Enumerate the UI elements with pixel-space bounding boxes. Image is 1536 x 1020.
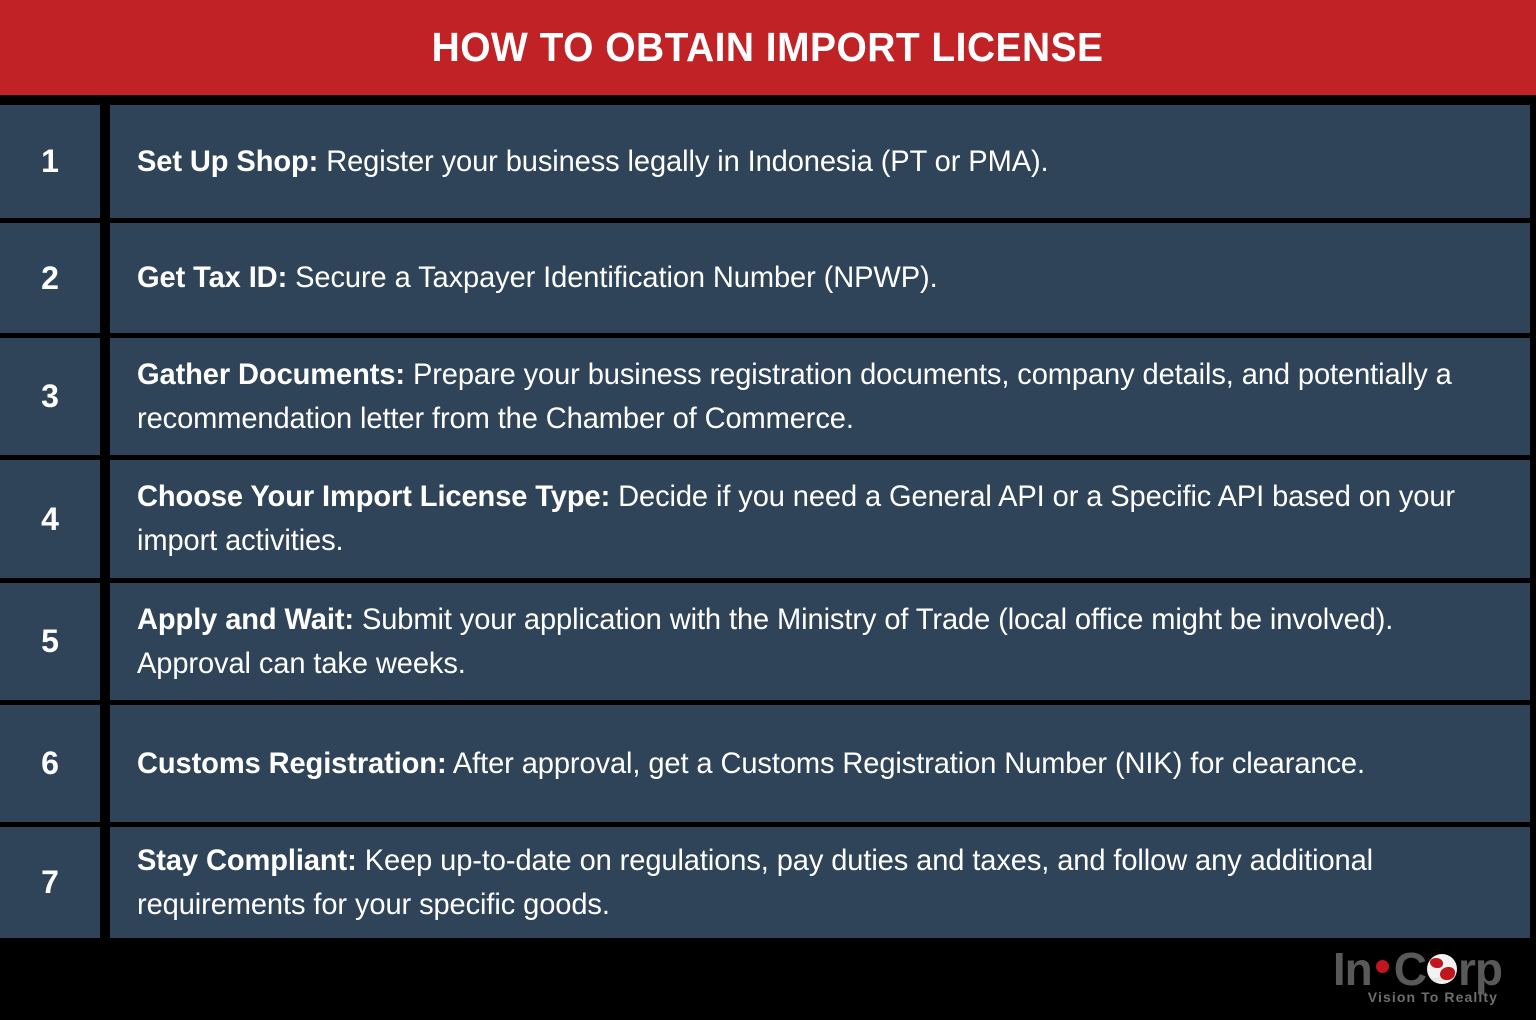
- step-description: Get Tax ID: Secure a Taxpayer Identifica…: [137, 256, 1501, 300]
- step-content: Set Up Shop: Register your business lega…: [110, 105, 1530, 218]
- step-lead: Get Tax ID:: [137, 261, 287, 294]
- globe-icon: [1427, 954, 1457, 984]
- logo-text-rp: rp: [1458, 946, 1502, 992]
- step-number: 3: [0, 338, 100, 455]
- header-banner: HOW TO OBTAIN IMPORT LICENSE: [0, 0, 1536, 95]
- column-divider: [100, 338, 110, 455]
- step-description: Choose Your Import License Type: Decide …: [137, 475, 1501, 562]
- step-row: 5Apply and Wait: Submit your application…: [0, 583, 1536, 700]
- step-lead: Apply and Wait:: [137, 603, 354, 636]
- column-divider: [100, 105, 110, 218]
- step-content: Get Tax ID: Secure a Taxpayer Identifica…: [110, 223, 1530, 333]
- logo-text-in: In: [1333, 946, 1372, 992]
- logo-wordmark: In C rp: [1292, 946, 1502, 992]
- step-row: 3Gather Documents: Prepare your business…: [0, 338, 1536, 455]
- page-title: HOW TO OBTAIN IMPORT LICENSE: [432, 27, 1104, 68]
- step-lead: Stay Compliant:: [137, 844, 357, 877]
- step-content: Apply and Wait: Submit your application …: [110, 583, 1530, 700]
- column-divider: [100, 583, 110, 700]
- step-row: 6Customs Registration: After approval, g…: [0, 705, 1536, 822]
- column-divider: [100, 223, 110, 333]
- logo-text-c: C: [1394, 946, 1426, 992]
- step-number: 6: [0, 705, 100, 822]
- step-row: 4Choose Your Import License Type: Decide…: [0, 460, 1536, 578]
- step-row: 2Get Tax ID: Secure a Taxpayer Identific…: [0, 223, 1536, 333]
- step-number: 7: [0, 827, 100, 938]
- step-description: Stay Compliant: Keep up-to-date on regul…: [137, 839, 1501, 926]
- step-number: 5: [0, 583, 100, 700]
- step-row: 1Set Up Shop: Register your business leg…: [0, 105, 1536, 218]
- step-content: Gather Documents: Prepare your business …: [110, 338, 1530, 455]
- step-content: Customs Registration: After approval, ge…: [110, 705, 1530, 822]
- step-lead: Gather Documents:: [137, 358, 405, 391]
- globe-band: [1427, 975, 1457, 983]
- logo-dot-icon: [1376, 960, 1389, 973]
- footer: In C rp Vision To Reality: [0, 940, 1536, 1020]
- column-divider: [100, 705, 110, 822]
- step-row: 7Stay Compliant: Keep up-to-date on regu…: [0, 827, 1536, 938]
- step-description: Set Up Shop: Register your business lega…: [137, 140, 1501, 184]
- step-description: Customs Registration: After approval, ge…: [137, 742, 1501, 786]
- step-number: 4: [0, 460, 100, 578]
- step-content: Stay Compliant: Keep up-to-date on regul…: [110, 827, 1530, 938]
- incorp-logo[interactable]: In C rp Vision To Reality: [1292, 946, 1502, 1014]
- step-body: Secure a Taxpayer Identification Number …: [287, 261, 937, 294]
- step-lead: Set Up Shop:: [137, 145, 318, 178]
- step-body: After approval, get a Customs Registrati…: [447, 747, 1365, 780]
- step-lead: Choose Your Import License Type:: [137, 480, 610, 513]
- step-description: Apply and Wait: Submit your application …: [137, 598, 1501, 685]
- step-lead: Customs Registration:: [137, 747, 447, 780]
- logo-tagline: Vision To Reality: [1368, 990, 1498, 1004]
- step-description: Gather Documents: Prepare your business …: [137, 353, 1501, 440]
- column-divider: [100, 460, 110, 578]
- step-body: Register your business legally in Indone…: [318, 145, 1048, 178]
- steps-list: 1Set Up Shop: Register your business leg…: [0, 95, 1536, 940]
- step-number: 2: [0, 223, 100, 333]
- column-divider: [100, 827, 110, 938]
- step-content: Choose Your Import License Type: Decide …: [110, 460, 1530, 578]
- step-number: 1: [0, 105, 100, 218]
